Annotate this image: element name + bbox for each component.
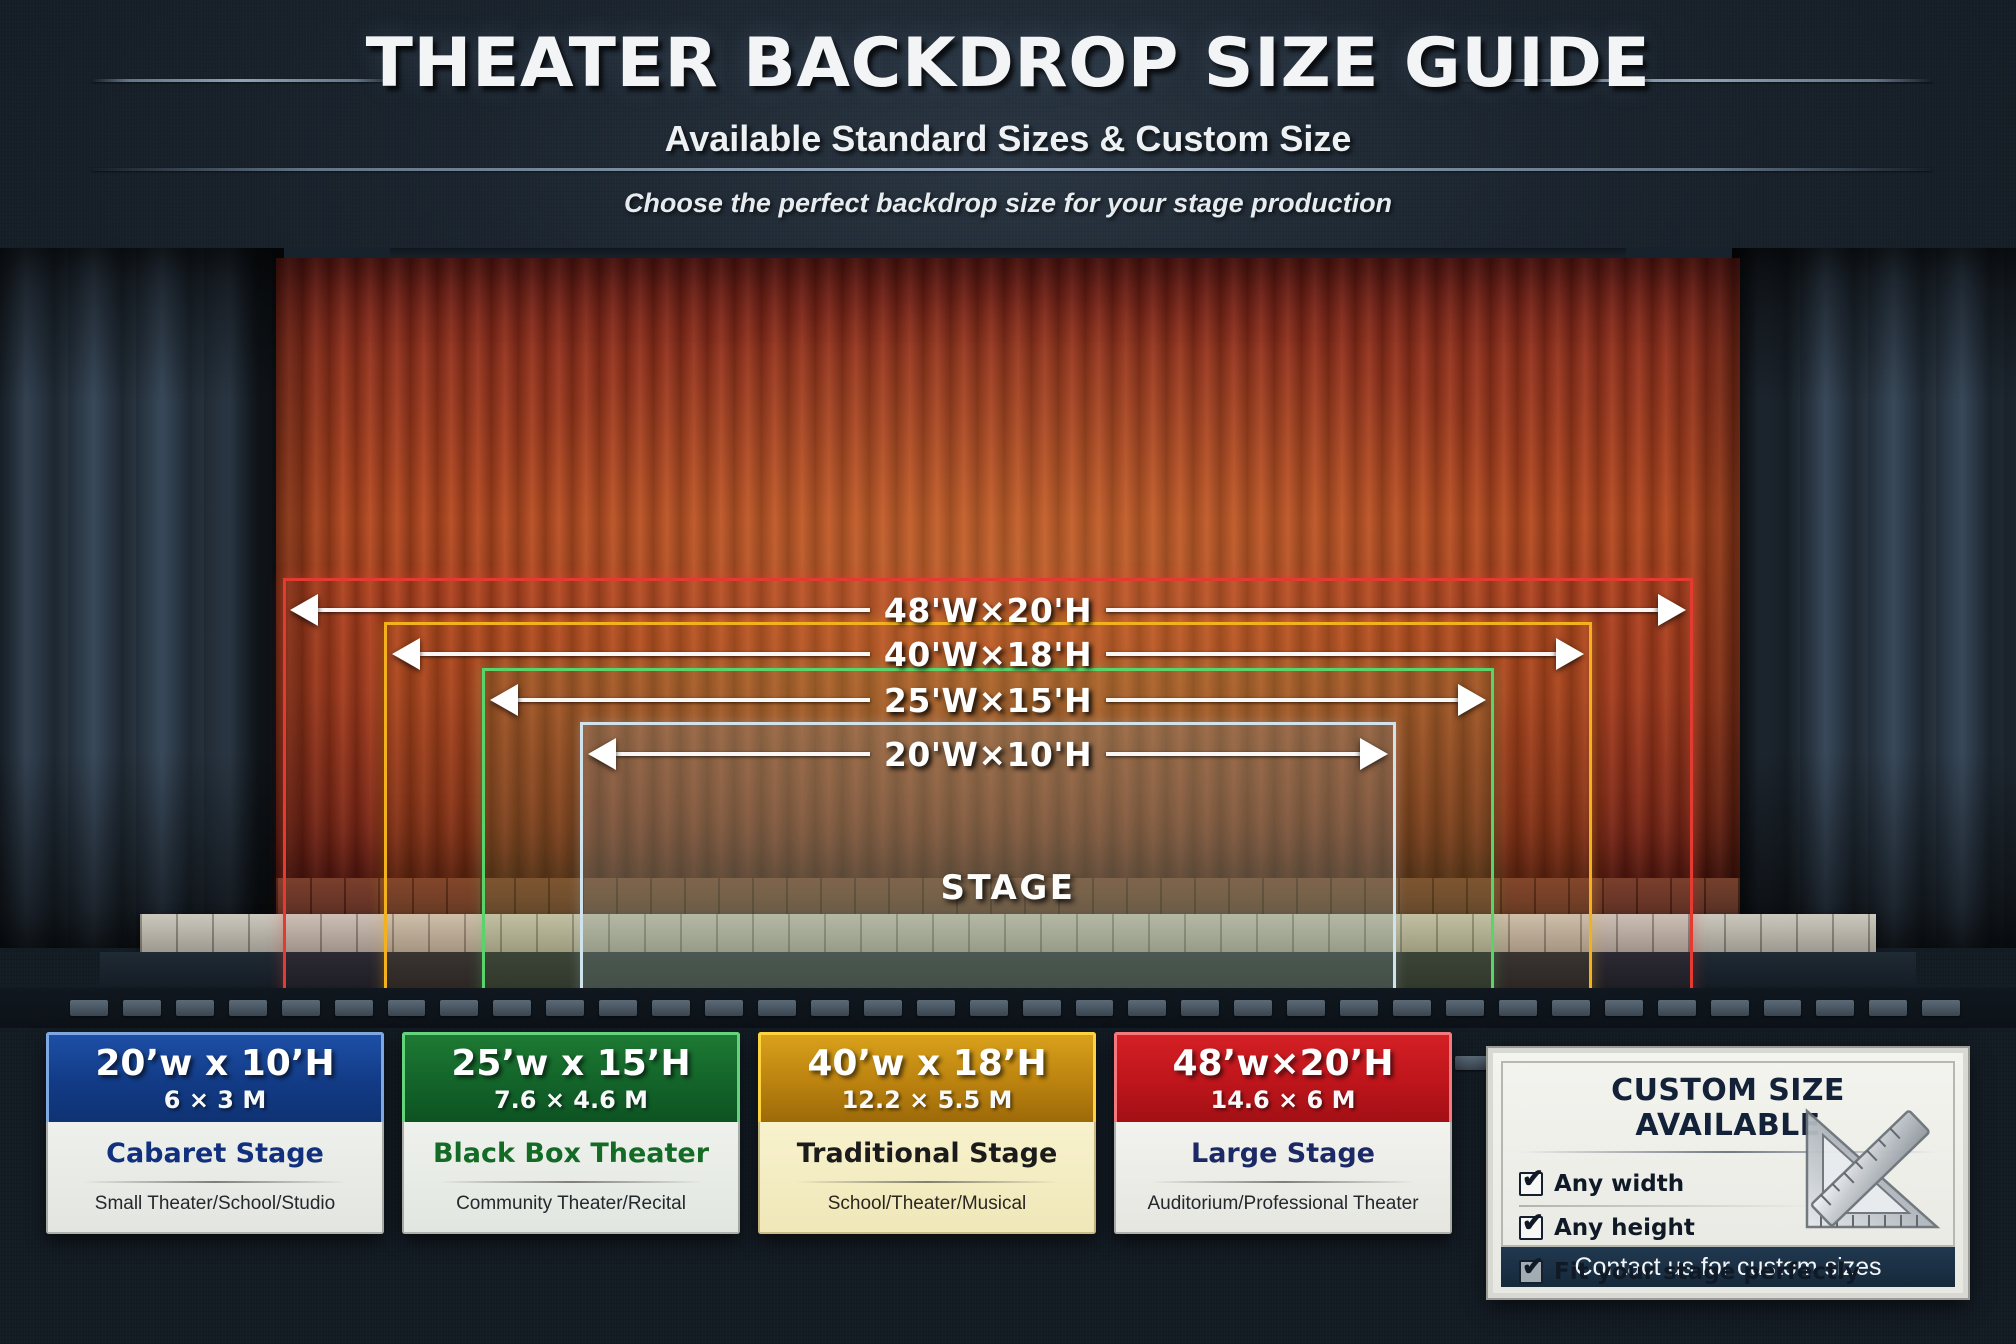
footlight-lamp [1922, 1000, 1960, 1016]
size-card-divider [439, 1181, 703, 1183]
page-title: THEATER BACKDROP SIZE GUIDE [0, 24, 2016, 103]
size-card-meters: 7.6 × 4.6 M [494, 1086, 648, 1114]
dimension-line [1106, 652, 1556, 656]
footlight-lamp [1658, 1000, 1696, 1016]
custom-feature-fit-stage[interactable]: Fit your stage perfectly [1519, 1251, 1937, 1293]
footlight-lamp [1393, 1000, 1431, 1016]
footlight-lamp [1552, 1000, 1590, 1016]
custom-feature-label: Any width [1554, 1171, 1684, 1197]
infographic-canvas: THEATER BACKDROP SIZE GUIDE Available St… [0, 0, 2016, 1344]
footlight-lamp [388, 1000, 426, 1016]
size-card-use: School/Theater/Musical [828, 1193, 1027, 1215]
stage-label: STAGE [0, 868, 2016, 908]
page-subtitle: Available Standard Sizes & Custom Size [0, 118, 2016, 160]
footlight-lamp [917, 1000, 955, 1016]
footlight-lamp [123, 1000, 161, 1016]
side-curtain-right [1732, 248, 2016, 948]
checkbox-checked-icon[interactable] [1519, 1216, 1543, 1240]
header: THEATER BACKDROP SIZE GUIDE Available St… [0, 0, 2016, 285]
size-card-name: Large Stage [1191, 1138, 1375, 1169]
footlight-lamp [1234, 1000, 1272, 1016]
footlight-lamp [599, 1000, 637, 1016]
size-card-divider [83, 1181, 347, 1183]
size-card-feet: 20’w x 10’H [95, 1043, 334, 1084]
size-card-use: Community Theater/Recital [456, 1193, 686, 1215]
size-card-body: Large Stage Auditorium/Professional Thea… [1114, 1122, 1452, 1234]
dimension-line [420, 652, 870, 656]
size-card-large-stage[interactable]: 48’w×20’H 14.6 × 6 M Large Stage Auditor… [1114, 1032, 1452, 1234]
arrow-left-icon [392, 638, 420, 670]
footlight-lamp [652, 1000, 690, 1016]
footlight-lamp [1711, 1000, 1749, 1016]
size-card-feet: 40’w x 18’H [807, 1043, 1046, 1084]
footlight-lamp-row [70, 1000, 1960, 1016]
footlight-lamp [1764, 1000, 1802, 1016]
footlight-lamp [546, 1000, 584, 1016]
footlight-lamp [1181, 1000, 1219, 1016]
size-card-header: 25’w x 15’H 7.6 × 4.6 M [402, 1032, 740, 1122]
dimension-line [518, 698, 870, 702]
size-card-feet: 25’w x 15’H [451, 1043, 690, 1084]
dimension-line [1106, 752, 1360, 756]
size-card-meters: 14.6 × 6 M [1211, 1086, 1356, 1114]
arrow-right-icon [1658, 594, 1686, 626]
size-card-feet: 48’w×20’H [1172, 1043, 1393, 1084]
size-card-name: Cabaret Stage [106, 1138, 324, 1169]
footlight-lamp [1287, 1000, 1325, 1016]
dimension-label: 20'W×10'H [870, 735, 1106, 774]
stage-illustration: 48'W×20'H 40'W×18'H 25'W×15'H 20'W×10'H … [0, 248, 2016, 988]
arrow-left-icon [588, 738, 616, 770]
dimension-row-48x20: 48'W×20'H [290, 590, 1686, 630]
footlight-lamp [1869, 1000, 1907, 1016]
size-card-name: Traditional Stage [797, 1138, 1058, 1169]
footlight-lamp [335, 1000, 373, 1016]
dimension-line [616, 752, 870, 756]
size-card-body: Cabaret Stage Small Theater/School/Studi… [46, 1122, 384, 1234]
size-card-divider [795, 1181, 1059, 1183]
footlight-lamp [493, 1000, 531, 1016]
footlight-lamp [864, 1000, 902, 1016]
size-card-body: Black Box Theater Community Theater/Reci… [402, 1122, 740, 1234]
dimension-line [318, 608, 870, 612]
footlight-lamp [705, 1000, 743, 1016]
size-card-cabaret-stage[interactable]: 20’w x 10’H 6 × 3 M Cabaret Stage Small … [46, 1032, 384, 1234]
arrow-right-icon [1458, 684, 1486, 716]
size-card-header: 40’w x 18’H 12.2 × 5.5 M [758, 1032, 1096, 1122]
dimension-line [1106, 698, 1458, 702]
size-card-black-box-theater[interactable]: 25’w x 15’H 7.6 × 4.6 M Black Box Theate… [402, 1032, 740, 1234]
header-rule-middle [92, 168, 1932, 171]
footlight-lamp [758, 1000, 796, 1016]
dimension-label: 48'W×20'H [870, 591, 1106, 630]
checkbox-checked-icon[interactable] [1519, 1172, 1543, 1196]
dimension-line [1106, 608, 1658, 612]
footlight-lamp [70, 1000, 108, 1016]
size-card-list: 20’w x 10’H 6 × 3 M Cabaret Stage Small … [46, 1032, 1456, 1162]
size-card-header: 48’w×20’H 14.6 × 6 M [1114, 1032, 1452, 1122]
arrow-right-icon [1556, 638, 1584, 670]
size-card-name: Black Box Theater [433, 1138, 709, 1169]
dimension-row-25x15: 25'W×15'H [490, 680, 1486, 720]
size-card-meters: 12.2 × 5.5 M [842, 1086, 1013, 1114]
size-card-traditional-stage[interactable]: 40’w x 18’H 12.2 × 5.5 M Traditional Sta… [758, 1032, 1096, 1234]
side-curtain-left [0, 248, 284, 948]
custom-size-panel[interactable]: CUSTOM SIZE AVAILABLE Any width Any heig… [1488, 1048, 1968, 1298]
checkbox-checked-icon[interactable] [1519, 1260, 1543, 1284]
footlight-lamp [1076, 1000, 1114, 1016]
arrow-right-icon [1360, 738, 1388, 770]
footlight-lamp [440, 1000, 478, 1016]
footlight-lamp [1605, 1000, 1643, 1016]
arrow-left-icon [290, 594, 318, 626]
size-card-divider [1151, 1181, 1415, 1183]
custom-feature-any-width[interactable]: Any width [1519, 1163, 1937, 1205]
footlight-lamp [1128, 1000, 1166, 1016]
page-tagline: Choose the perfect backdrop size for you… [0, 188, 2016, 219]
footlight-lamp [970, 1000, 1008, 1016]
footlight-lamp [1499, 1000, 1537, 1016]
footlight-lamp [1023, 1000, 1061, 1016]
custom-feature-label: Fit your stage perfectly [1554, 1259, 1860, 1285]
footlight-lamp [176, 1000, 214, 1016]
footlight-lamp [1340, 1000, 1378, 1016]
size-card-body: Traditional Stage School/Theater/Musical [758, 1122, 1096, 1234]
dimension-row-20x10: 20'W×10'H [588, 734, 1388, 774]
custom-feature-any-height[interactable]: Any height [1519, 1207, 1937, 1249]
dimension-label: 40'W×18'H [870, 635, 1106, 674]
dimension-row-40x18: 40'W×18'H [392, 634, 1584, 674]
arrow-left-icon [490, 684, 518, 716]
custom-size-panel-body: CUSTOM SIZE AVAILABLE Any width Any heig… [1501, 1061, 1955, 1247]
size-card-use: Auditorium/Professional Theater [1147, 1193, 1418, 1215]
footlight-lamp [811, 1000, 849, 1016]
footlight-lamp [1446, 1000, 1484, 1016]
size-card-use: Small Theater/School/Studio [95, 1193, 335, 1215]
footlight-lamp [1816, 1000, 1854, 1016]
dimension-label: 25'W×15'H [870, 681, 1106, 720]
size-card-meters: 6 × 3 M [164, 1086, 266, 1114]
footlight-lamp [282, 1000, 320, 1016]
size-card-header: 20’w x 10’H 6 × 3 M [46, 1032, 384, 1122]
custom-feature-label: Any height [1554, 1215, 1695, 1241]
footlight-lamp [229, 1000, 267, 1016]
